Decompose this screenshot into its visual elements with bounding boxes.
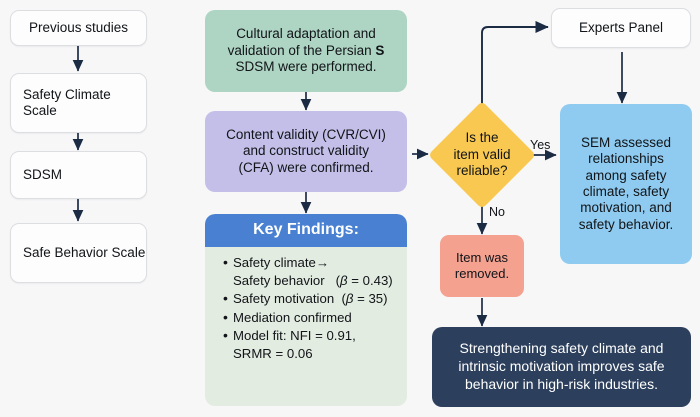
edge-label-no: No xyxy=(489,205,505,219)
node-safe-behavior-scale-label: Safe Behavior Scale xyxy=(23,245,145,261)
key-findings-item-0-stat-post: = 0.43) xyxy=(348,273,393,288)
sem-line3: among safety xyxy=(585,168,666,184)
key-findings-item-3-line1: Model fit: NFI = 0.91, xyxy=(233,328,356,343)
node-experts-panel-label: Experts Panel xyxy=(579,20,663,36)
key-findings-item: Safety climate→ Safety behavior (β = 0.4… xyxy=(223,254,399,289)
key-findings-item: Safety motivation (β = 35) xyxy=(223,290,399,308)
sem-line5: motivation, and xyxy=(580,200,672,216)
cultural-adaptation-line2: validation of the Persian S xyxy=(228,43,385,59)
node-decision[interactable]: Is the item valid reliable? xyxy=(428,101,536,209)
key-findings-list: Safety climate→ Safety behavior (β = 0.4… xyxy=(205,247,407,367)
node-sem[interactable]: SEM assessed relationships among safety … xyxy=(560,104,692,264)
key-findings-item-2-line1: Mediation confirmed xyxy=(233,310,352,325)
validity-line2: and construct validity xyxy=(243,143,369,159)
item-removed-line2: removed. xyxy=(455,266,509,282)
item-removed-line1: Item was xyxy=(456,250,508,266)
key-findings-item-0-line2: Safety behavior xyxy=(233,273,325,288)
flowchart-canvas: Previous studies Safety Climate Scale SD… xyxy=(0,0,700,417)
node-conclusion[interactable]: Strengthening safety climate and intrins… xyxy=(432,327,691,407)
key-findings-item-3-line2: SRMR = 0.06 xyxy=(233,346,313,361)
node-safety-climate-scale-label: Safety Climate Scale xyxy=(23,87,146,120)
decision-line1: Is the xyxy=(453,130,510,146)
validity-line1: Content validity (CVR/CVI) xyxy=(226,127,386,143)
node-item-removed[interactable]: Item was removed. xyxy=(440,235,524,297)
edge-label-yes: Yes xyxy=(530,138,550,152)
cultural-adaptation-line1: Cultural adaptation and xyxy=(236,26,376,42)
key-findings-item: Model fit: NFI = 0.91, SRMR = 0.06 xyxy=(223,327,399,362)
key-findings-item-0-line1: Safety climate→ xyxy=(233,255,329,270)
node-previous-studies[interactable]: Previous studies xyxy=(10,10,147,46)
node-key-findings[interactable]: Key Findings: Safety climate→ Safety beh… xyxy=(205,214,407,406)
sem-line2: relationships xyxy=(588,151,664,167)
node-experts-panel[interactable]: Experts Panel xyxy=(551,8,691,48)
key-findings-header: Key Findings: xyxy=(205,214,407,247)
conclusion-line1: Strengthening safety climate and xyxy=(460,340,664,358)
cultural-adaptation-line3: SDSM were performed. xyxy=(235,59,376,75)
sem-line1: SEM assessed xyxy=(581,135,671,151)
arrow-decision-to-experts xyxy=(482,27,548,110)
node-cultural-adaptation[interactable]: Cultural adaptation and validation of th… xyxy=(205,10,407,92)
key-findings-item-1-line1: Safety motivation xyxy=(233,291,334,306)
node-safety-climate-scale[interactable]: Safety Climate Scale xyxy=(10,73,147,133)
cultural-adaptation-line2-text: validation of the Persian xyxy=(228,43,376,58)
node-sdsm[interactable]: SDSM xyxy=(10,151,147,199)
node-validity[interactable]: Content validity (CVR/CVI) and construct… xyxy=(205,111,407,192)
node-previous-studies-label: Previous studies xyxy=(29,20,128,36)
node-safe-behavior-scale[interactable]: Safe Behavior Scale xyxy=(10,223,147,283)
key-findings-item-0-beta: β xyxy=(340,273,348,288)
decision-text: Is the item valid reliable? xyxy=(428,101,536,209)
key-findings-item: Mediation confirmed xyxy=(223,309,399,327)
sem-line4: climate, safety xyxy=(583,184,669,200)
sem-line6: safety behavior. xyxy=(579,217,674,233)
validity-line3: (CFA) were confirmed. xyxy=(238,160,373,176)
decision-line3: reliable? xyxy=(453,163,510,179)
key-findings-item-1-stat-post: = 35) xyxy=(353,291,387,306)
conclusion-line2: intrinsic motivation improves safe xyxy=(458,358,664,376)
decision-line2: item valid xyxy=(453,147,510,163)
node-sdsm-label: SDSM xyxy=(23,167,62,183)
cultural-adaptation-bold-s: S xyxy=(375,43,384,58)
conclusion-line3: behavior in high-risk industries. xyxy=(465,376,658,394)
